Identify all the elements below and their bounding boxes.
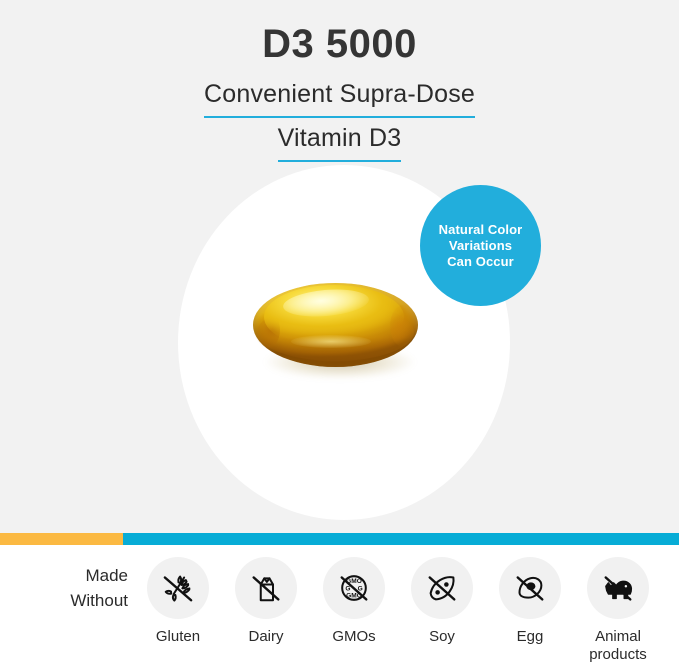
made-without-item-gluten: Gluten xyxy=(134,557,222,664)
accent-bar-cyan-segment xyxy=(123,533,679,545)
made-without-item-label: Egg xyxy=(517,628,544,646)
subtitle-text-1: Convenient Supra-Dose xyxy=(204,74,475,118)
no-animal-products-icon xyxy=(587,557,649,619)
softgel-capsule-image xyxy=(253,283,418,379)
made-without-item-label: Soy xyxy=(429,628,455,646)
hero-section: Natural Color Variations Can Occur xyxy=(0,160,679,533)
made-without-item-egg: Egg xyxy=(486,557,574,664)
made-without-label: Made Without xyxy=(20,563,128,613)
no-egg-icon xyxy=(499,557,561,619)
page-title: D3 5000 xyxy=(0,20,679,68)
made-without-item-gmos: GMO G G GMO GMOs xyxy=(310,557,398,664)
made-without-item-animal-products: Animal products xyxy=(574,557,662,664)
header: D3 5000 Convenient Supra-Dose Vitamin D3 xyxy=(0,0,679,162)
no-gluten-icon xyxy=(147,557,209,619)
no-gmo-icon: GMO G G GMO xyxy=(323,557,385,619)
made-without-icon-row: Gluten Dairy GMO xyxy=(134,557,674,664)
made-without-label-line-2: Without xyxy=(20,588,128,613)
softgel-lower-highlight xyxy=(291,335,371,348)
subtitle-line-1: Convenient Supra-Dose xyxy=(0,74,679,118)
accent-color-bar xyxy=(0,533,679,545)
no-soy-icon xyxy=(411,557,473,619)
natural-color-variations-badge: Natural Color Variations Can Occur xyxy=(420,185,541,306)
subtitle-line-2: Vitamin D3 xyxy=(0,118,679,162)
made-without-item-dairy: Dairy xyxy=(222,557,310,664)
badge-text: Natural Color Variations Can Occur xyxy=(439,222,523,270)
made-without-item-label: Dairy xyxy=(248,628,283,646)
badge-line-3: Can Occur xyxy=(439,254,523,270)
made-without-label-line-1: Made xyxy=(20,563,128,588)
made-without-item-label: GMOs xyxy=(332,628,375,646)
made-without-item-label: Animal products xyxy=(576,628,660,664)
accent-bar-orange-segment xyxy=(0,533,123,545)
svg-text:G: G xyxy=(345,586,350,593)
subtitle-group: Convenient Supra-Dose Vitamin D3 xyxy=(0,74,679,162)
made-without-item-soy: Soy xyxy=(398,557,486,664)
badge-line-2: Variations xyxy=(439,238,523,254)
subtitle-text-2: Vitamin D3 xyxy=(278,118,402,162)
badge-line-1: Natural Color xyxy=(439,222,523,238)
no-dairy-icon xyxy=(235,557,297,619)
made-without-section: Made Without Glu xyxy=(0,545,679,672)
made-without-item-label: Gluten xyxy=(156,628,200,646)
